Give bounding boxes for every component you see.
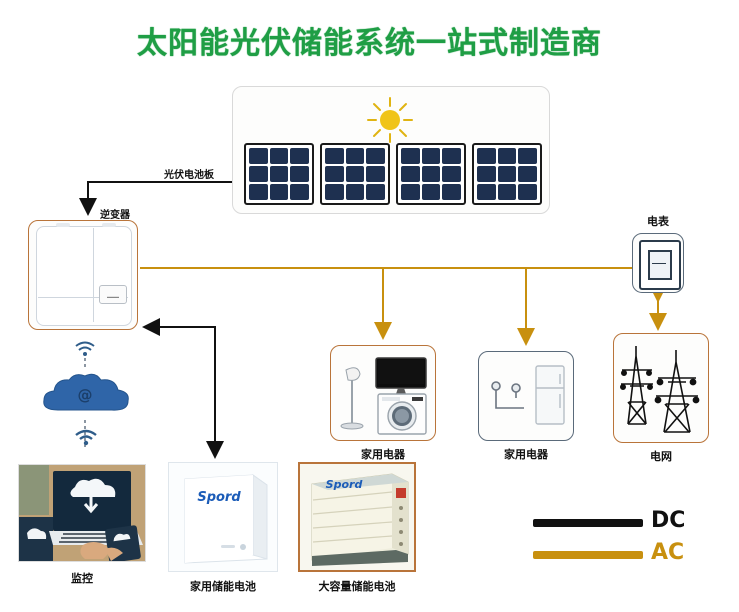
legend-ac-swatch	[533, 551, 643, 559]
home-appliance-icon	[336, 352, 430, 436]
home-appliance-icon	[484, 358, 570, 436]
large-battery-label: 大容量储能电池	[290, 578, 424, 594]
appliances-1-label: 家用电器	[330, 446, 436, 462]
inverter-display-icon: ▬▬▬	[99, 285, 127, 304]
monitoring-label: 监控	[18, 570, 146, 586]
inverter-icon	[36, 226, 132, 326]
wire-inverter-to-battery	[150, 327, 215, 455]
grid-label: 电网	[613, 448, 709, 464]
monitoring-photo-icon[interactable]	[18, 464, 146, 562]
pv-panels-label: 光伏电池板	[164, 166, 214, 181]
brand-logo: Spord	[326, 478, 363, 491]
brand-logo: Spord	[197, 490, 241, 505]
inverter-label: 逆变器	[100, 206, 130, 221]
transmission-tower-icon	[620, 340, 702, 436]
cloud-at-glyph: @	[78, 386, 93, 404]
home-battery-photo-icon[interactable]: Spord	[168, 462, 278, 572]
legend-dc-label: DC	[651, 508, 685, 533]
home-battery-label: 家用储能电池	[162, 578, 284, 594]
appliances-2-label: 家用电器	[478, 446, 574, 462]
meter-label: 电表	[612, 213, 704, 229]
wifi-icon	[74, 428, 98, 446]
cloud-icon: @	[38, 370, 132, 418]
legend-dc-swatch	[533, 519, 643, 527]
large-battery-photo-icon[interactable]: Spord	[298, 462, 416, 572]
diagram-canvas: 太阳能光伏储能系统一站式制造商	[0, 0, 739, 612]
legend-ac-label: AC	[651, 540, 684, 565]
wifi-icon	[74, 340, 96, 356]
